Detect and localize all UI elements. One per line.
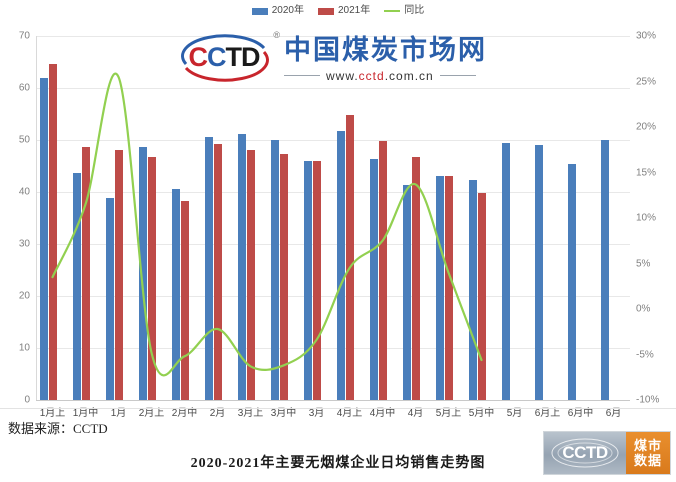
badge-label-panel: 煤市 数据 bbox=[626, 432, 670, 474]
legend-label-2020: 2020年 bbox=[272, 6, 304, 16]
x-axis-tick-label: 3月上 bbox=[238, 404, 264, 419]
x-axis-tick-label: 3月中 bbox=[271, 404, 297, 419]
badge-label-line2: 数据 bbox=[634, 453, 662, 468]
y-axis-tick-right: 10% bbox=[636, 213, 672, 224]
badge-logo-panel: CCTD bbox=[544, 432, 626, 474]
legend-label-2021: 2021年 bbox=[338, 6, 370, 16]
yoy-line-series bbox=[36, 36, 630, 400]
y-axis-tick-right: 30% bbox=[636, 31, 672, 42]
chart-legend: 2020年 2021年 同比 bbox=[0, 6, 676, 16]
x-axis-tick-label: 5月 bbox=[507, 404, 523, 419]
x-axis-tick-label: 5月上 bbox=[436, 404, 462, 419]
y-axis-tick-left: 50 bbox=[0, 135, 30, 146]
y-axis-tick-right: 0% bbox=[636, 304, 672, 315]
x-axis-tick-label: 6月上 bbox=[535, 404, 561, 419]
legend-swatch-2021 bbox=[318, 8, 334, 15]
plot-area: 010203040506070 -10%-5%0%5%10%15%20%25%3… bbox=[0, 22, 676, 412]
y-axis-tick-left: 30 bbox=[0, 239, 30, 250]
yoy-line-path bbox=[53, 74, 482, 376]
footer-divider bbox=[0, 408, 676, 409]
x-axis-tick-label: 4月上 bbox=[337, 404, 363, 419]
badge-label-line1: 煤市 bbox=[634, 438, 662, 453]
y-axis-tick-left: 70 bbox=[0, 31, 30, 42]
x-axis-tick-label: 6月 bbox=[606, 404, 622, 419]
legend-label-yoy: 同比 bbox=[404, 6, 424, 16]
y-axis-tick-left: 0 bbox=[0, 395, 30, 406]
x-axis-line bbox=[36, 400, 630, 401]
y-axis-tick-left: 40 bbox=[0, 187, 30, 198]
x-axis-tick-label: 4月 bbox=[408, 404, 424, 419]
legend-swatch-yoy bbox=[384, 10, 400, 12]
legend-swatch-2020 bbox=[252, 8, 268, 15]
x-axis-labels: 1月上1月中1月2月上2月中2月3月上3月中3月4月上4月中4月5月上5月中5月… bbox=[36, 404, 630, 424]
legend-item-yoy: 同比 bbox=[384, 6, 424, 16]
x-axis-tick-label: 4月中 bbox=[370, 404, 396, 419]
x-axis-tick-label: 1月上 bbox=[40, 404, 66, 419]
data-source-label: 数据来源：CCTD bbox=[8, 418, 108, 437]
x-axis-tick-label: 2月上 bbox=[139, 404, 165, 419]
y-axis-tick-right: 20% bbox=[636, 122, 672, 133]
x-axis-tick-label: 1月中 bbox=[73, 404, 99, 419]
y-axis-tick-right: 5% bbox=[636, 258, 672, 269]
x-axis-tick-label: 2月 bbox=[210, 404, 226, 419]
badge-logo-text: CCTD bbox=[544, 443, 626, 463]
x-axis-tick-label: 1月 bbox=[111, 404, 127, 419]
legend-item-2021: 2021年 bbox=[318, 6, 370, 16]
chart-screenshot: 2020年 2021年 同比 010203040506070 -10%-5%0%… bbox=[0, 0, 676, 482]
x-axis-tick-label: 6月中 bbox=[568, 404, 594, 419]
y-axis-tick-left: 20 bbox=[0, 291, 30, 302]
legend-item-2020: 2020年 bbox=[252, 6, 304, 16]
x-axis-tick-label: 5月中 bbox=[469, 404, 495, 419]
y-axis-tick-left: 10 bbox=[0, 343, 30, 354]
y-axis-tick-right: 15% bbox=[636, 167, 672, 178]
y-axis-tick-left: 60 bbox=[0, 83, 30, 94]
cctd-coal-data-badge: CCTD 煤市 数据 bbox=[543, 431, 671, 475]
x-axis-tick-label: 3月 bbox=[309, 404, 325, 419]
y-axis-tick-right: -10% bbox=[636, 395, 672, 406]
y-axis-tick-right: -5% bbox=[636, 349, 672, 360]
y-axis-tick-right: 25% bbox=[636, 76, 672, 87]
x-axis-tick-label: 2月中 bbox=[172, 404, 198, 419]
